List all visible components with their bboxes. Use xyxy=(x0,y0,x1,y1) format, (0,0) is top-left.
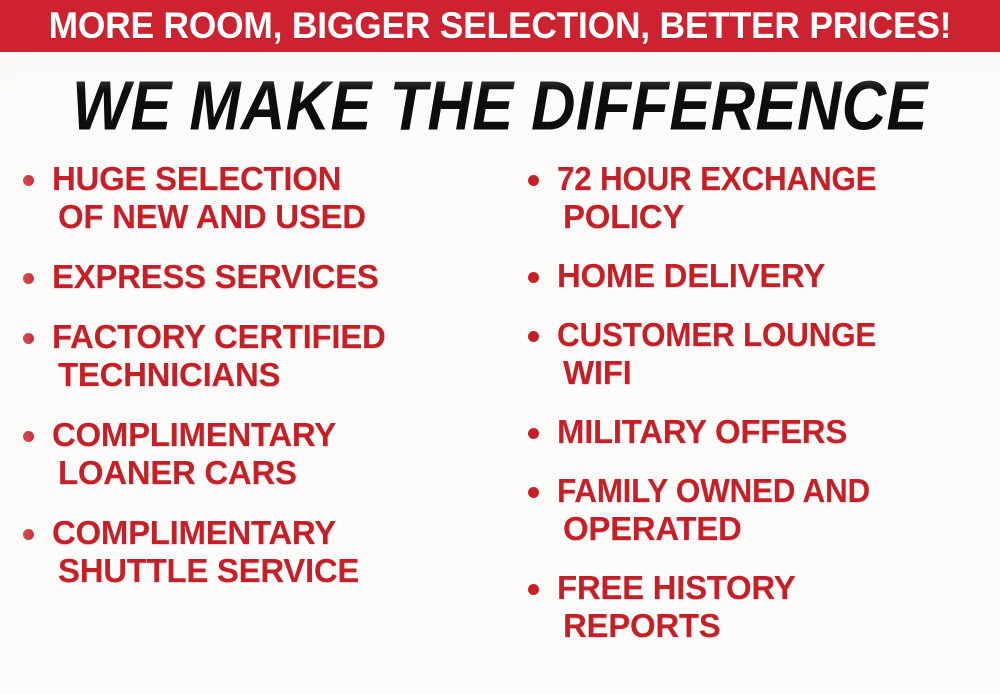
list-item: FREE HISTORY REPORTS xyxy=(516,569,994,645)
promo-banner: MORE ROOM, BIGGER SELECTION, BETTER PRIC… xyxy=(0,0,1000,52)
list-item-line: CUSTOMER LOUNGE xyxy=(557,316,876,354)
list-item: COMPLIMENTARY LOANER CARS xyxy=(14,416,500,492)
list-item-line: LOANER CARS xyxy=(52,454,500,492)
list-item-line: COMPLIMENTARY xyxy=(52,514,500,552)
benefits-column-right: 72 HOUR EXCHANGE POLICY HOME DELIVERY CU… xyxy=(516,160,994,694)
list-item-line: SHUTTLE SERVICE xyxy=(52,552,500,590)
list-item-line: FACTORY CERTIFIED xyxy=(52,318,500,356)
list-item: COMPLIMENTARY SHUTTLE SERVICE xyxy=(14,514,500,590)
bullet-dot-icon xyxy=(528,584,539,595)
list-item-line: OPERATED xyxy=(557,510,994,548)
bullet-dot-icon xyxy=(23,333,34,344)
bullet-dot-icon xyxy=(23,431,34,442)
list-item-line: FAMILY OWNED AND xyxy=(557,472,870,510)
bullet-dot-icon xyxy=(528,272,539,283)
benefits-column-left: HUGE SELECTION OF NEW AND USED EXPRESS S… xyxy=(14,160,500,694)
list-item: FAMILY OWNED AND OPERATED xyxy=(516,472,994,548)
list-item: FACTORY CERTIFIED TECHNICIANS xyxy=(14,318,500,394)
promo-banner-text: MORE ROOM, BIGGER SELECTION, BETTER PRIC… xyxy=(23,0,978,52)
list-item-line: REPORTS xyxy=(557,607,994,645)
list-item-line: POLICY xyxy=(557,198,994,236)
list-item: CUSTOMER LOUNGE WIFI xyxy=(516,316,994,392)
list-item-line: 72 HOUR EXCHANGE xyxy=(557,160,876,198)
page-title: WE MAKE THE DIFFERENCE xyxy=(35,68,965,142)
list-item: MILITARY OFFERS xyxy=(516,413,994,451)
list-item-line: WIFI xyxy=(557,354,994,392)
bullet-dot-icon xyxy=(23,273,34,284)
bullet-dot-icon xyxy=(528,487,539,498)
list-item: 72 HOUR EXCHANGE POLICY xyxy=(516,160,994,236)
bullet-dot-icon xyxy=(528,428,539,439)
bullet-dot-icon xyxy=(23,529,34,540)
benefits-columns: HUGE SELECTION OF NEW AND USED EXPRESS S… xyxy=(0,160,1000,694)
list-item-line: HUGE SELECTION xyxy=(52,160,500,198)
list-item-line: FREE HISTORY xyxy=(557,569,994,607)
list-item-line: EXPRESS SERVICES xyxy=(52,258,500,296)
list-item-line: OF NEW AND USED xyxy=(52,198,500,236)
list-item-line: COMPLIMENTARY xyxy=(52,416,500,454)
bullet-dot-icon xyxy=(23,175,34,186)
list-item: HOME DELIVERY xyxy=(516,257,994,295)
bullet-dot-icon xyxy=(528,331,539,342)
bullet-dot-icon xyxy=(528,175,539,186)
list-item-line: TECHNICIANS xyxy=(52,356,500,394)
list-item: EXPRESS SERVICES xyxy=(14,258,500,296)
list-item-line: HOME DELIVERY xyxy=(557,257,994,295)
list-item: HUGE SELECTION OF NEW AND USED xyxy=(14,160,500,236)
list-item-line: MILITARY OFFERS xyxy=(557,413,994,451)
